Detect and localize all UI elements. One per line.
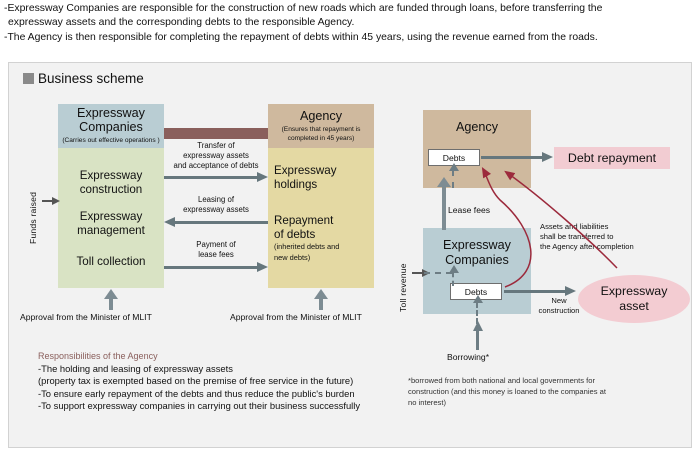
row-construction-line2: construction <box>58 183 164 197</box>
flow-transfer-line1: Transfer of <box>166 141 266 151</box>
repayment-line2: of debts <box>274 228 374 242</box>
left-companies-title-line1: Expressway <box>77 106 145 120</box>
right-agency-label: Agency <box>423 120 531 134</box>
flow-label-leasing: Leasing of expressway assets <box>166 195 266 215</box>
debt-repayment-box: Debt repayment <box>554 147 670 169</box>
arrow-toll-revenue <box>412 272 422 274</box>
intro-paragraph: -Expressway Companies are responsible fo… <box>4 2 698 45</box>
arrow-payment-right <box>164 266 258 269</box>
holdings-line2: holdings <box>274 178 374 192</box>
agency-block-repayment: Repayment of debts (inherited debts and … <box>274 214 374 262</box>
left-companies-body: Expressway construction Expressway manag… <box>58 148 164 288</box>
left-companies-row-management: Expressway management <box>58 210 164 237</box>
approval-label-right: Approval from the Minister of MLIT <box>230 312 362 322</box>
flow-transfer-line2: expressway assets <box>166 151 266 161</box>
transfer-note: Assets and liabilities shall be transfer… <box>540 222 700 252</box>
flow-transfer-line3: and acceptance of debts <box>166 161 266 171</box>
arrow-funds-raised <box>42 200 52 202</box>
new-construction-line1: New <box>528 296 590 306</box>
left-companies-subtitle: (Carries out effective operations ) <box>62 136 159 146</box>
intro-line-3: -The Agency is then responsible for comp… <box>4 31 698 45</box>
approval-label-left: Approval from the Minister of MLIT <box>20 312 152 322</box>
right-companies-line2: Companies <box>423 253 531 268</box>
funds-raised-label: Funds raised <box>28 178 38 244</box>
maroon-connector-bar <box>164 128 268 139</box>
left-agency-body: Expressway holdings Repayment of debts (… <box>268 148 374 288</box>
new-construction-label: New construction <box>528 296 590 316</box>
responsibilities-heading: Responsibilities of the Agency <box>38 350 388 363</box>
left-agency-header: Agency (Ensures that repayment is comple… <box>268 104 374 148</box>
flow-label-transfer: Transfer of expressway assets and accept… <box>166 141 266 172</box>
screenshot-root: -Expressway Companies are responsible fo… <box>0 0 700 458</box>
transfer-note-line1: Assets and liabilities <box>540 222 700 232</box>
repayment-sub-line2: new debts) <box>274 253 374 263</box>
panel-title-text: Business scheme <box>38 71 144 86</box>
arrow-transfer-right <box>164 176 258 179</box>
left-agency-subtitle-line2: completed in 45 years) <box>288 134 355 144</box>
arrow-lease-fees-dashed <box>452 170 454 188</box>
left-companies-row-construction: Expressway construction <box>58 169 164 196</box>
responsibilities-item-0: -The holding and leasing of expressway a… <box>38 363 388 376</box>
agency-block-holdings: Expressway holdings <box>274 164 374 191</box>
bullet-square-icon <box>23 73 34 84</box>
footnote-line2: construction (and this money is loaned t… <box>408 386 678 397</box>
arrow-leasing-left <box>174 221 268 224</box>
flow-leasing-line2: expressway assets <box>166 205 266 215</box>
left-companies-row-toll: Toll collection <box>58 255 164 269</box>
arrow-borrowing <box>476 328 479 350</box>
new-construction-line2: construction <box>528 306 590 316</box>
panel-title: Business scheme <box>23 71 144 86</box>
transfer-note-line2: shall be transferred to <box>540 232 700 242</box>
footnote-block: *borrowed from both national and local g… <box>408 375 678 408</box>
left-agency-title: Agency <box>300 109 342 123</box>
transfer-note-line3: the Agency after completion <box>540 242 700 252</box>
arrow-debt-repayment <box>481 156 543 159</box>
footnote-line3: no interest) <box>408 397 678 408</box>
expressway-asset-line1: Expressway <box>601 284 668 299</box>
left-companies-title-line2: Companies <box>79 120 143 134</box>
flow-payment-line1: Payment of <box>166 240 266 250</box>
row-management-line1: Expressway <box>58 210 164 224</box>
left-companies-header: Expressway Companies (Carries out effect… <box>58 104 164 148</box>
repayment-line1: Repayment <box>274 214 374 228</box>
repayment-sub-line1: (inherited debts and <box>274 242 374 252</box>
expressway-asset-ellipse: Expressway asset <box>578 275 690 323</box>
row-management-line2: management <box>58 224 164 238</box>
responsibilities-block: Responsibilities of the Agency -The hold… <box>38 350 388 413</box>
flow-leasing-line1: Leasing of <box>166 195 266 205</box>
arrow-approval-left <box>109 298 113 310</box>
responsibilities-item-1: (property tax is exempted based on the p… <box>38 375 388 388</box>
left-agency-subtitle-line1: (Ensures that repayment is <box>282 125 361 135</box>
intro-line-2: expressway assets and the corresponding … <box>4 16 698 30</box>
responsibilities-item-2: -To ensure early repayment of the debts … <box>38 388 388 401</box>
responsibilities-item-3: -To support expressway companies in carr… <box>38 400 388 413</box>
footnote-line1: *borrowed from both national and local g… <box>408 375 678 386</box>
toll-revenue-label: Toll revenue <box>398 250 408 312</box>
expressway-asset-line2: asset <box>619 299 649 314</box>
right-companies-label: Expressway Companies <box>423 238 531 268</box>
right-companies-line1: Expressway <box>423 238 531 253</box>
lease-fees-label: Lease fees <box>448 205 490 216</box>
flow-payment-line2: lease fees <box>166 250 266 260</box>
intro-line-1: -Expressway Companies are responsible fo… <box>4 2 698 16</box>
toll-revenue-dash-riser <box>452 272 454 286</box>
arrow-new-construction <box>504 290 566 293</box>
row-construction-line1: Expressway <box>58 169 164 183</box>
borrowing-label: Borrowing* <box>447 352 489 363</box>
arrow-approval-right <box>319 298 323 310</box>
arrow-lease-fees <box>442 186 446 230</box>
flow-label-payment: Payment of lease fees <box>166 240 266 260</box>
holdings-line1: Expressway <box>274 164 374 178</box>
